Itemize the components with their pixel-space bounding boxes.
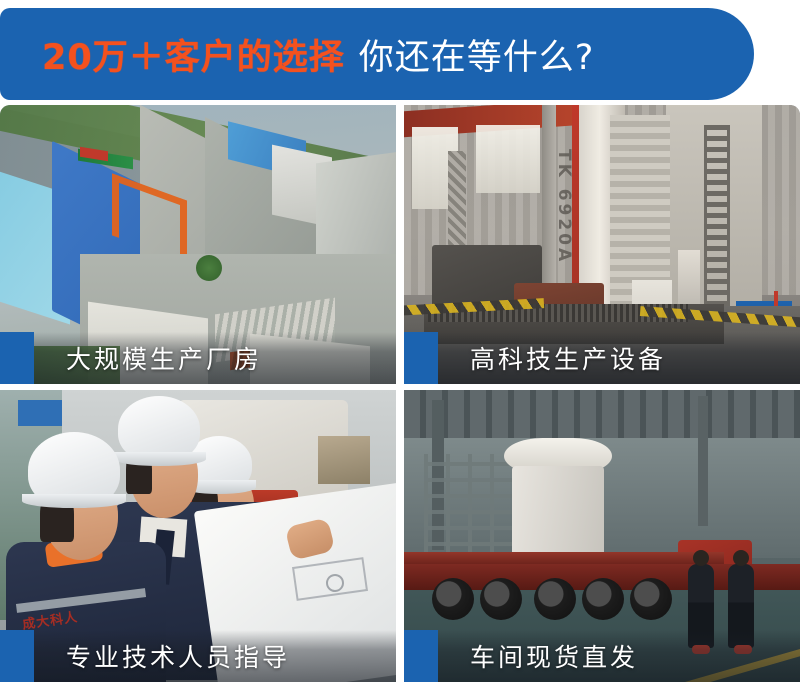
image-gallery-grid: 大规模生产厂房 TK 6920A xyxy=(0,105,800,682)
decor-ladder xyxy=(704,125,730,315)
factory-aerial-photo xyxy=(0,105,396,384)
decor-blue-sign xyxy=(18,400,62,426)
banner-question-text: 你还在等什么? xyxy=(359,29,595,80)
decor-tree xyxy=(196,255,222,281)
hightech-equipment-photo: TK 6920A xyxy=(404,105,800,384)
decor-person-head-a xyxy=(693,550,709,566)
gallery-item-factory[interactable]: 大规模生产厂房 xyxy=(0,105,396,384)
workshop-shipping-photo xyxy=(404,390,800,682)
decor-panel-box xyxy=(678,250,700,310)
decor-carton-box xyxy=(318,436,370,484)
decor-trailer-wheel xyxy=(630,578,672,620)
decor-trailer-wheel xyxy=(534,578,576,620)
header-banner: 20万＋客户的选择 你还在等什么? xyxy=(0,8,754,100)
decor-helmet-brim-1 xyxy=(22,494,126,508)
decor-trailer-wheel xyxy=(582,578,624,620)
machine-model-label: TK 6920A xyxy=(554,149,574,264)
decor-helmet-brim-2 xyxy=(114,452,206,466)
decor-scaffolding xyxy=(424,454,512,562)
decor-window-b xyxy=(476,125,540,193)
banner-accent-text: 20万＋客户的选择 xyxy=(42,29,345,80)
decor-trailer-wheel xyxy=(480,578,522,620)
decor-person-head-b xyxy=(733,550,749,566)
decor-person-shoe-a xyxy=(692,645,710,654)
gallery-item-equipment[interactable]: TK 6920A 高科技生产设备 xyxy=(404,105,800,384)
promo-page: 20万＋客户的选择 你还在等什么? xyxy=(0,0,800,682)
gallery-item-engineers[interactable]: 成大科人 专业技术人员指导 xyxy=(0,390,396,682)
engineers-photo: 成大科人 xyxy=(0,390,396,682)
decor-trailer-wheel xyxy=(432,578,474,620)
banner-text-group: 20万＋客户的选择 你还在等什么? xyxy=(0,29,594,80)
gallery-item-shipping[interactable]: 车间现货直发 xyxy=(404,390,800,682)
decor-tree-row xyxy=(0,346,120,384)
decor-person-b xyxy=(728,564,754,648)
decor-person-a xyxy=(688,564,714,648)
decor-person-shoe-b xyxy=(734,645,752,654)
decor-pillar-right xyxy=(698,396,708,526)
